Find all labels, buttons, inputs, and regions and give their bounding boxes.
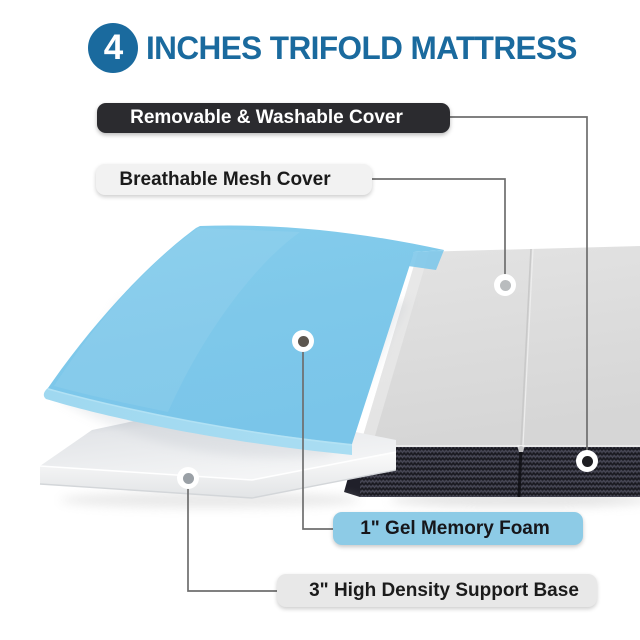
callout-high-density-support-base[interactable]: 3" High Density Support Base: [277, 574, 597, 607]
callout-label: 3" High Density Support Base: [309, 580, 579, 602]
badge-number: 4: [104, 30, 122, 65]
marker-dot-gel-layer[interactable]: [292, 330, 314, 352]
mesh-band-top-edge: [360, 445, 640, 447]
marker-dot-core: [582, 456, 593, 467]
marker-dot-core: [183, 473, 194, 484]
marker-dot-base-layer[interactable]: [177, 467, 199, 489]
marker-dot-core: [500, 280, 511, 291]
mesh-band-seam: [519, 446, 521, 497]
callout-label: Removable & Washable Cover: [130, 107, 403, 129]
infographic-canvas: 4 INCHES TRIFOLD MATTRESS Removable & Wa…: [0, 0, 640, 640]
callout-gel-memory-foam[interactable]: 1" Gel Memory Foam: [333, 512, 583, 545]
marker-dot-core: [298, 336, 309, 347]
mesh-side-band: [360, 446, 640, 497]
callout-label: 1" Gel Memory Foam: [360, 518, 550, 540]
inches-badge: 4: [88, 23, 138, 73]
callout-breathable-mesh-cover[interactable]: Breathable Mesh Cover: [96, 164, 372, 195]
marker-dot-top-cover[interactable]: [494, 274, 516, 296]
page-title: INCHES TRIFOLD MATTRESS: [146, 24, 577, 72]
header: 4 INCHES TRIFOLD MATTRESS: [0, 0, 640, 96]
callout-label: Breathable Mesh Cover: [119, 169, 330, 191]
callout-removable-washable-cover[interactable]: Removable & Washable Cover: [97, 103, 450, 133]
marker-dot-mesh-band[interactable]: [576, 450, 598, 472]
